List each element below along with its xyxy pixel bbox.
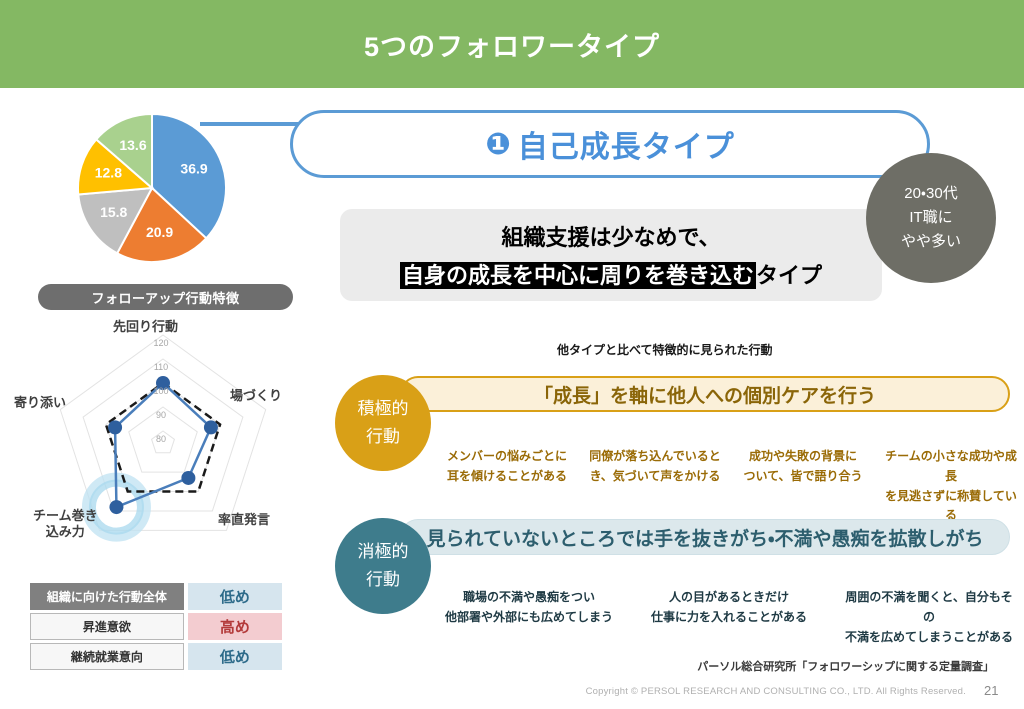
radar-data-point	[181, 471, 195, 485]
list-item: 成功や失敗の背景に ついて、皆で語り合う	[736, 447, 870, 526]
list-item-line2: き、気づいて声をかける	[588, 467, 722, 487]
pie-caption-text: フォローアップ行動特徴	[92, 288, 240, 307]
table-row: 組織に向けた行動全体 低め	[30, 583, 282, 610]
positive-behavior-badge-line2: 行動	[366, 423, 400, 451]
description-line-1: 組織支援は少なめで、	[501, 220, 720, 252]
list-item-line2: ついて、皆で語り合う	[736, 467, 870, 487]
positive-behavior-banner: 「成長」を軸に他人への個別ケアを行う	[400, 376, 1010, 412]
type-title-label: 自己成長タイプ	[518, 122, 735, 166]
radar-tick-label: 110	[154, 362, 168, 372]
list-item-line2: 他部署や外部にも広めてしまう	[440, 608, 618, 628]
list-item-line1: 職場の不満や愚痴をつい	[440, 588, 618, 608]
slide-header: 5つのフォロワータイプ	[0, 0, 1024, 88]
list-item-line2: 仕事に力を入れることがある	[640, 608, 818, 628]
negative-behavior-badge-line2: 行動	[366, 566, 400, 594]
positive-behavior-items: メンバーの悩みごとに 耳を傾けることがある 同僚が落ち込んでいると き、気づいて…	[440, 447, 1018, 526]
list-item-line1: 同僚が落ち込んでいると	[588, 447, 722, 467]
radar-axis-label-3: チーム巻き込み力	[33, 508, 98, 541]
radar-data-point	[204, 420, 218, 434]
copyright-text: Copyright © PERSOL RESEARCH AND CONSULTI…	[0, 686, 966, 697]
table-row-key: 昇進意欲	[30, 613, 184, 640]
list-item-line1: 周囲の不満を聞くと、自分もその	[840, 588, 1018, 628]
negative-behavior-banner: 見られていないところでは手を抜きがち・不満や愚痴を拡散しがち	[400, 519, 1010, 555]
radar-axis-label-2: 率直発言	[218, 512, 270, 528]
page-title: 5つのフォロワータイプ	[0, 0, 1024, 88]
positive-behavior-badge-line1: 積極的	[358, 395, 409, 423]
description-suffix: タイプ	[756, 263, 822, 288]
radar-axis-label-1: 場づくり	[230, 388, 282, 404]
radar-tick-label: 120	[153, 338, 168, 348]
description-line-2: 自身の成長を中心に周りを巻き込むタイプ	[400, 258, 822, 290]
description-box: 組織支援は少なめで、 自身の成長を中心に周りを巻き込むタイプ	[340, 209, 882, 301]
list-item: メンバーの悩みごとに 耳を傾けることがある	[440, 447, 574, 526]
radar-tick-label: 90	[156, 410, 166, 420]
list-item-line2: 耳を傾けることがある	[440, 467, 574, 487]
type-title-text: ❶ 自己成長タイプ	[485, 122, 734, 166]
radar-tick-label: 100	[153, 386, 168, 396]
table-row-value: 高め	[188, 613, 282, 640]
pie-chart: 36.920.915.812.813.6	[77, 113, 227, 263]
negative-behavior-badge-line1: 消極的	[358, 538, 409, 566]
table-row-value: 低め	[188, 583, 282, 610]
list-item: 職場の不満や愚痴をつい 他部署や外部にも広めてしまう	[440, 588, 618, 647]
type-title-box: ❶ 自己成長タイプ	[290, 110, 930, 178]
pie-slice-label: 12.8	[95, 165, 122, 181]
radar-data-point	[108, 420, 122, 434]
list-item-line1: 人の目があるときだけ	[640, 588, 818, 608]
list-item: 同僚が落ち込んでいると き、気づいて声をかける	[588, 447, 722, 526]
radar-data-point	[109, 500, 123, 514]
radar-tick-label: 80	[156, 434, 166, 444]
radar-axis-label-4: 寄り添い	[14, 395, 66, 411]
pie-slice-label: 15.8	[100, 204, 127, 220]
description-highlight: 自身の成長を中心に周りを巻き込む	[400, 262, 756, 289]
demographic-badge: 20・30代 IT職に やや多い	[866, 153, 996, 283]
list-item: チームの小さな成功や成長 を見逃さずに称賛している	[884, 447, 1018, 526]
positive-behavior-badge: 積極的 行動	[335, 375, 431, 471]
demographic-badge-line1: 20・30代	[904, 182, 957, 206]
negative-behavior-badge: 消極的 行動	[335, 518, 431, 614]
page-number: 21	[984, 683, 998, 698]
table-row-key: 組織に向けた行動全体	[30, 583, 184, 610]
pie-chart-svg: 36.920.915.812.813.6	[77, 113, 227, 263]
pie-slice-label: 20.9	[146, 224, 173, 240]
pie-slice-label: 36.9	[180, 160, 207, 176]
list-item: 周囲の不満を聞くと、自分もその 不満を広めてしまうことがある	[840, 588, 1018, 647]
radar-axis-label-0: 先回り行動	[113, 319, 178, 335]
pie-slice-label: 13.6	[119, 137, 146, 153]
pie-caption-pill: フォローアップ行動特徴	[38, 284, 293, 310]
list-item-line1: メンバーの悩みごとに	[440, 447, 574, 467]
list-item-line1: 成功や失敗の背景に	[736, 447, 870, 467]
list-item-line2: 不満を広めてしまうことがある	[840, 628, 1018, 648]
slide: 5つのフォロワータイプ 36.920.915.812.813.6 フォローアップ…	[0, 0, 1024, 709]
source-note: パーソル総合研究所「フォロワーシップに関する定量調査」	[0, 658, 994, 674]
demographic-badge-line2: IT職に	[909, 206, 952, 230]
list-item-line1: チームの小さな成功や成長	[884, 447, 1018, 487]
negative-behavior-items: 職場の不満や愚痴をつい 他部署や外部にも広めてしまう 人の目があるときだけ 仕事…	[440, 588, 1018, 647]
table-row: 昇進意欲 高め	[30, 613, 282, 640]
type-number-badge: ❶	[485, 127, 511, 162]
behaviors-subcaption: 他タイプと比べて特徴的に見られた行動	[557, 341, 773, 358]
list-item: 人の目があるときだけ 仕事に力を入れることがある	[640, 588, 818, 647]
demographic-badge-line3: やや多い	[901, 230, 961, 254]
